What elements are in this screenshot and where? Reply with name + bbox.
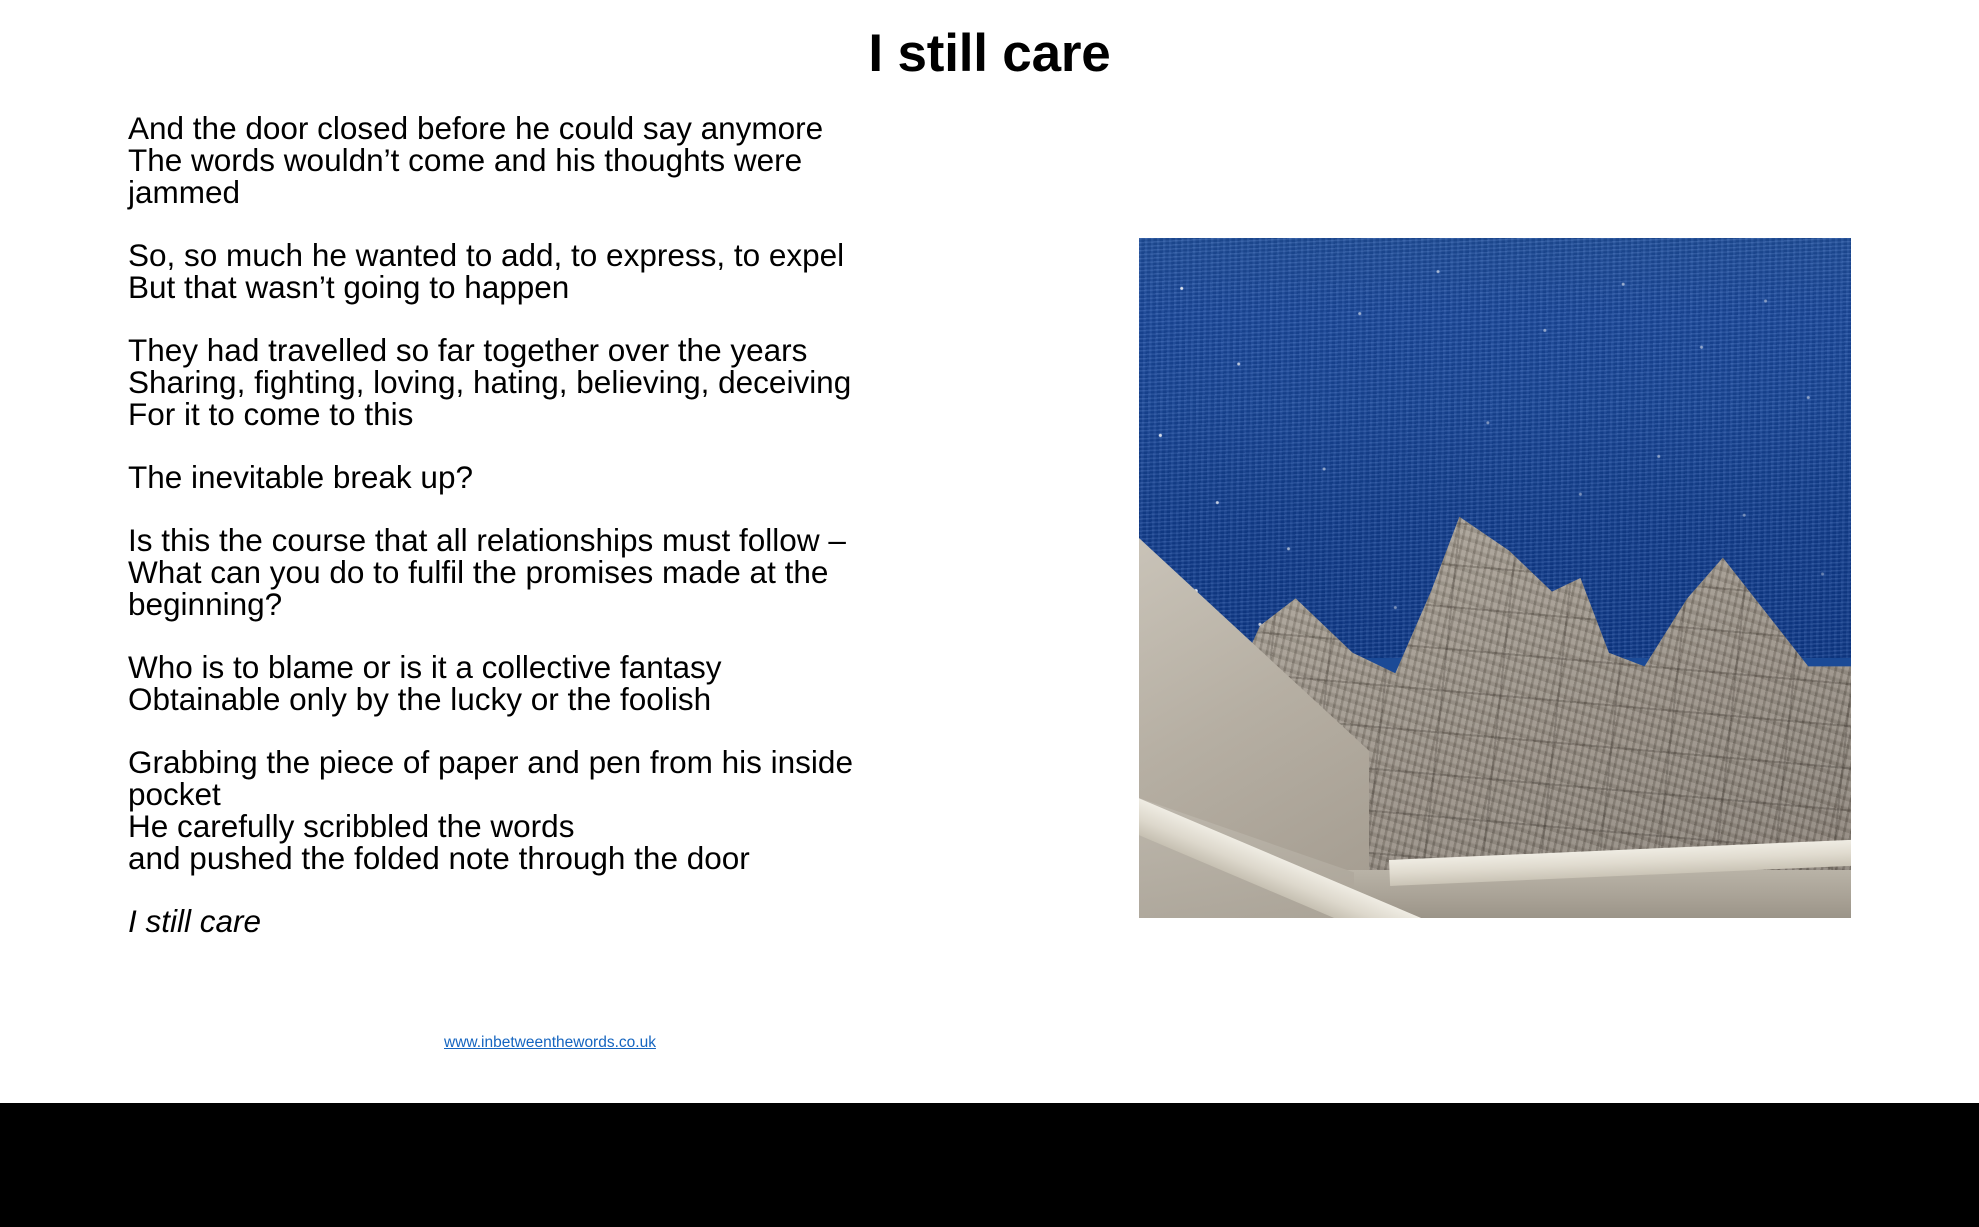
page-title: I still care <box>0 24 1979 85</box>
sea-and-stone-wall-photo <box>1139 238 1851 918</box>
poem-stanza: I still care <box>128 905 988 937</box>
poem-stanza: Is this the course that all relationship… <box>128 524 988 620</box>
poem-line: Who is to blame or is it a collective fa… <box>128 651 988 683</box>
poem-line: Grabbing the piece of paper and pen from… <box>128 746 988 778</box>
poem-stanza: Who is to blame or is it a collective fa… <box>128 651 988 715</box>
poem-line: pocket <box>128 778 988 810</box>
poem-line: and pushed the folded note through the d… <box>128 842 988 874</box>
poem-line: Sharing, fighting, loving, hating, belie… <box>128 366 988 398</box>
poem-line: The words wouldn’t come and his thoughts… <box>128 144 988 176</box>
poem-line: And the door closed before he could say … <box>128 112 988 144</box>
poem-line: Obtainable only by the lucky or the fool… <box>128 683 988 715</box>
poem-line: beginning? <box>128 588 988 620</box>
poem-line: The inevitable break up? <box>128 461 988 493</box>
poem-stanza: So, so much he wanted to add, to express… <box>128 239 988 303</box>
poem-line: Is this the course that all relationship… <box>128 524 988 556</box>
slide-canvas: I still care And the door closed before … <box>0 0 1979 1227</box>
poem-stanza: Grabbing the piece of paper and pen from… <box>128 746 988 874</box>
poem-stanza: And the door closed before he could say … <box>128 112 988 208</box>
poem-line: They had travelled so far together over … <box>128 334 988 366</box>
website-link[interactable]: www.inbetweenthewords.co.uk <box>444 1034 656 1052</box>
poem-stanza: They had travelled so far together over … <box>128 334 988 430</box>
poem-line: I still care <box>128 905 988 937</box>
poem-line: So, so much he wanted to add, to express… <box>128 239 988 271</box>
poem-line: For it to come to this <box>128 398 988 430</box>
poem-line: What can you do to fulfil the promises m… <box>128 556 988 588</box>
poem-line: jammed <box>128 176 988 208</box>
poem-stanza: The inevitable break up? <box>128 461 988 493</box>
poem-line: He carefully scribbled the words <box>128 810 988 842</box>
poem-body: And the door closed before he could say … <box>128 112 988 937</box>
poem-line: But that wasn’t going to happen <box>128 271 988 303</box>
bottom-black-band <box>0 1103 1979 1227</box>
